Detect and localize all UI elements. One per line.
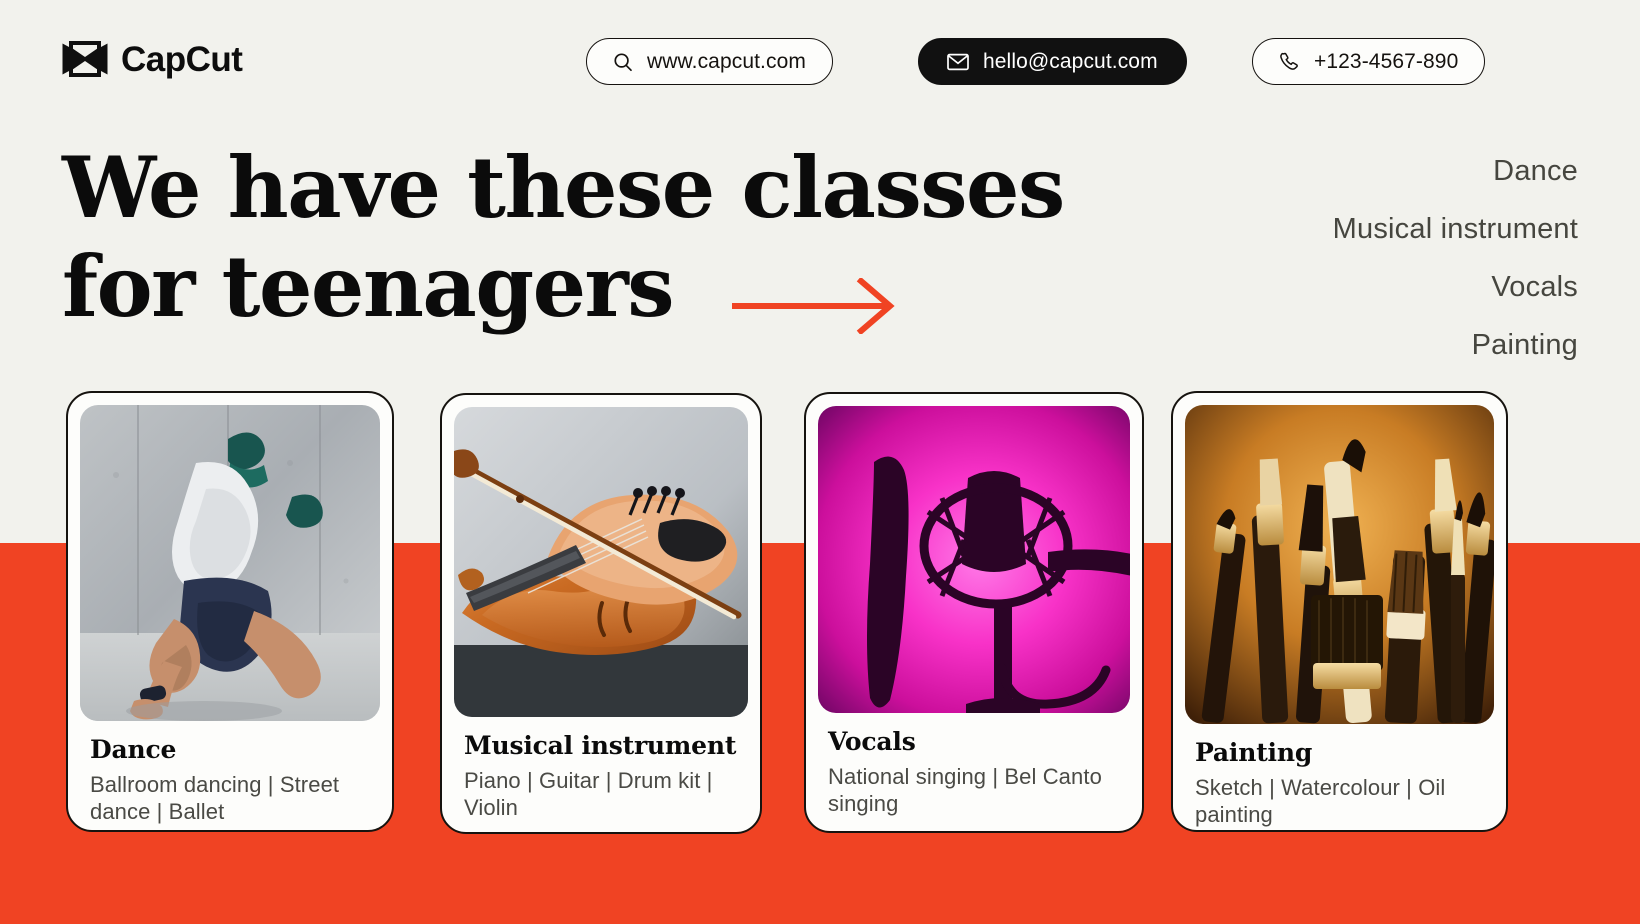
- class-card-painting[interactable]: Painting Sketch | Watercolour | Oil pain…: [1171, 391, 1508, 832]
- card-title-painting: Painting: [1195, 738, 1484, 768]
- category-list: Dance Musical instrument Vocals Painting: [1333, 142, 1578, 374]
- arrow-right-icon[interactable]: [730, 278, 898, 339]
- card-description-dance: Ballroom dancing | Street dance | Ballet: [90, 772, 370, 826]
- class-card-musical-instrument[interactable]: Musical instrument Piano | Guitar | Drum…: [440, 393, 762, 834]
- category-item-painting[interactable]: Painting: [1333, 316, 1578, 374]
- contact-email-label: hello@capcut.com: [983, 50, 1158, 74]
- card-image-dance: [80, 405, 380, 721]
- card-body-vocals: Vocals National singing | Bel Canto sing…: [806, 713, 1142, 818]
- headline-line-1: We have these classes: [62, 138, 1064, 237]
- class-card-dance[interactable]: Dance Ballroom dancing | Street dance | …: [66, 391, 394, 832]
- card-title-musical-instrument: Musical instrument: [464, 731, 738, 761]
- card-body-musical-instrument: Musical instrument Piano | Guitar | Drum…: [442, 717, 760, 822]
- contact-phone-label: +123-4567-890: [1314, 50, 1458, 74]
- envelope-icon: [947, 53, 969, 71]
- card-body-dance: Dance Ballroom dancing | Street dance | …: [68, 721, 392, 826]
- card-description-musical-instrument: Piano | Guitar | Drum kit | Violin: [464, 768, 738, 822]
- phone-icon: [1279, 51, 1300, 72]
- brand-name: CapCut: [121, 42, 242, 77]
- headline-line-2: for teenagers: [62, 237, 1162, 336]
- brand-logo[interactable]: CapCut: [62, 38, 242, 80]
- page-header: CapCut www.capcut.com hello@capcut.com +…: [0, 0, 1640, 124]
- contact-phone-pill[interactable]: +123-4567-890: [1252, 38, 1485, 85]
- card-image-musical-instrument: [454, 407, 748, 717]
- card-description-vocals: National singing | Bel Canto singing: [828, 764, 1120, 818]
- card-title-dance: Dance: [90, 735, 370, 765]
- search-icon: [613, 52, 633, 72]
- card-body-painting: Painting Sketch | Watercolour | Oil pain…: [1173, 724, 1506, 829]
- card-title-vocals: Vocals: [828, 727, 1120, 757]
- contact-website-pill[interactable]: www.capcut.com: [586, 38, 833, 85]
- card-image-painting: [1185, 405, 1494, 724]
- category-item-vocals[interactable]: Vocals: [1333, 258, 1578, 316]
- card-description-painting: Sketch | Watercolour | Oil painting: [1195, 775, 1484, 829]
- contact-website-label: www.capcut.com: [647, 50, 806, 74]
- card-image-vocals: [818, 406, 1130, 713]
- category-item-dance[interactable]: Dance: [1333, 142, 1578, 200]
- page-headline: We have these classes for teenagers: [62, 138, 1162, 336]
- category-item-musical-instrument[interactable]: Musical instrument: [1333, 200, 1578, 258]
- class-card-vocals[interactable]: Vocals National singing | Bel Canto sing…: [804, 392, 1144, 833]
- capcut-bowtie-icon: [62, 38, 108, 80]
- contact-email-pill[interactable]: hello@capcut.com: [918, 38, 1187, 85]
